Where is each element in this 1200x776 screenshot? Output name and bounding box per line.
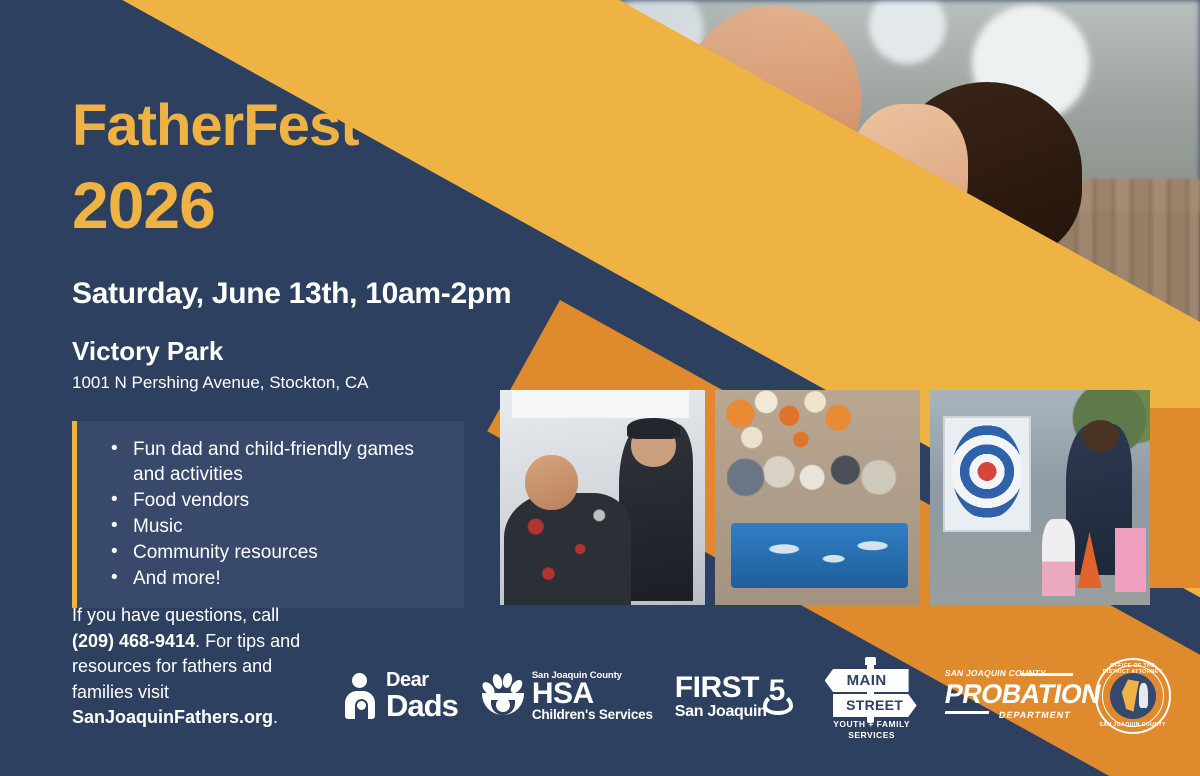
event-title: FatherFest: [72, 97, 359, 155]
photo1-barber-cap: [627, 418, 680, 440]
event-photo-barber: [500, 390, 705, 605]
logo-first-5: FIRST San Joaquin 5: [675, 673, 797, 720]
first5-name: FIRST: [675, 673, 767, 703]
features-list: Fun dad and child-friendly games and act…: [107, 437, 450, 591]
logo-dear-dads: Dear Dads: [345, 671, 458, 720]
contact-period: .: [273, 707, 278, 727]
main-street-line2: STREET: [833, 696, 917, 715]
contact-phone[interactable]: (209) 468-9414: [72, 631, 195, 651]
list-item: Fun dad and child-friendly games and act…: [107, 437, 450, 487]
sponsor-logo-row: Dear Dads San Joaquin County HSA Childre…: [345, 648, 1175, 744]
da-seal-top-text: OFFICE OF THE DISTRICT ATTORNEY: [1097, 663, 1169, 675]
list-item: Music: [107, 514, 450, 539]
main-street-subtitle: YOUTH + FAMILY SERVICES: [817, 719, 927, 740]
list-item: Community resources: [107, 540, 450, 565]
photo2-table-pattern: [731, 523, 907, 588]
venue-address: 1001 N Pershing Avenue, Stockton, CA: [72, 373, 368, 393]
photo1-cape-pattern: [504, 493, 631, 605]
probation-name: PROBATION: [942, 679, 1103, 710]
event-year: 2026: [72, 172, 215, 238]
features-panel: Fun dad and child-friendly games and act…: [72, 421, 464, 608]
photo3-pink-bag: [1115, 528, 1146, 593]
street-sign-icon: MAIN STREET YOUTH + FAMILY SERVICES: [819, 657, 923, 735]
logo-main-street: MAIN STREET YOUTH + FAMILY SERVICES: [819, 657, 923, 735]
contact-block: If you have questions, call (209) 468-94…: [72, 603, 322, 731]
logo-district-attorney: OFFICE OF THE DISTRICT ATTORNEY SAN JOAQ…: [1095, 658, 1171, 734]
photo3-adult-head: [1082, 420, 1119, 452]
event-photo-target-game: [930, 390, 1150, 605]
photo3-target-rings: [952, 424, 1022, 519]
photo1-banner: [512, 390, 688, 418]
event-photo-booth: [715, 390, 920, 605]
district-attorney-seal-icon: OFFICE OF THE DISTRICT ATTORNEY SAN JOAQ…: [1095, 658, 1171, 734]
fatherfest-flyer: FatherFest 2026 Saturday, June 13th, 10a…: [0, 0, 1200, 776]
photo1-client-head: [525, 455, 578, 511]
list-item: Food vendors: [107, 488, 450, 513]
contact-call-prefix: call: [252, 605, 279, 625]
contact-website[interactable]: SanJoaquinFathers.org: [72, 707, 273, 727]
hsa-acronym: HSA: [532, 680, 653, 708]
probation-dept: DEPARTMENT: [998, 710, 1072, 720]
first5-region: San Joaquin: [675, 704, 767, 720]
event-photo-strip: [500, 390, 1150, 605]
contact-after-phone: . For: [195, 631, 232, 651]
venue-name: Victory Park: [72, 336, 223, 367]
photo3-child: [1042, 519, 1075, 596]
hsa-division: Children's Services: [532, 708, 653, 722]
logo-hsa: San Joaquin County HSA Children's Servic…: [480, 671, 653, 722]
event-datetime: Saturday, June 13th, 10am-2pm: [72, 277, 511, 311]
list-item: And more!: [107, 566, 450, 591]
parent-child-icon: [345, 673, 379, 719]
hand-flower-icon: [480, 673, 526, 719]
logo-probation: SAN JOAQUIN COUNTY PROBATION DEPARTMENT: [945, 668, 1073, 724]
main-street-line1: MAIN: [825, 671, 909, 690]
contact-line-1: If you have questions,: [72, 605, 247, 625]
da-seal-bottom-text: SAN JOAQUIN COUNTY: [1097, 722, 1169, 728]
hand-five-icon: 5: [763, 676, 797, 716]
dear-dads-line2: Dads: [386, 691, 458, 720]
